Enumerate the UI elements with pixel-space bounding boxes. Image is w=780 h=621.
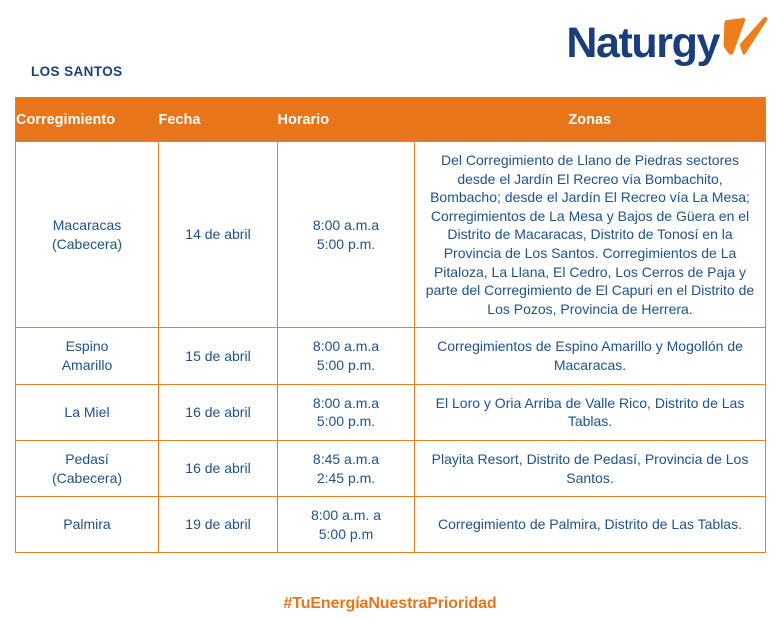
cell-horario: 8:00 a.m.a 5:00 p.m. — [278, 384, 415, 440]
naturgy-wordmark: Naturgy — [566, 22, 719, 65]
column-header-zonas: Zonas — [415, 98, 766, 142]
naturgy-flame-icon — [722, 16, 768, 70]
table-body: Macaracas (Cabecera) 14 de abril 8:00 a.… — [16, 142, 766, 553]
column-header-corregimiento: Corregimiento — [16, 98, 159, 142]
column-header-horario: Horario — [278, 98, 415, 142]
cell-corregimiento: Espino Amarillo — [16, 328, 159, 384]
table-row: Espino Amarillo 15 de abril 8:00 a.m.a 5… — [16, 328, 766, 384]
cell-corregimiento: Macaracas (Cabecera) — [16, 142, 159, 328]
cell-horario: 8:00 a.m.a 5:00 p.m. — [278, 328, 415, 384]
table-row: Pedasí (Cabecera) 16 de abril 8:45 a.m.a… — [16, 440, 766, 496]
cell-horario: 8:45 a.m.a 2:45 p.m. — [278, 440, 415, 496]
table-row: La Miel 16 de abril 8:00 a.m.a 5:00 p.m.… — [16, 384, 766, 440]
campaign-hashtag: #TuEnergíaNuestraPrioridad — [283, 595, 496, 613]
cell-fecha: 15 de abril — [159, 328, 278, 384]
cell-corregimiento: Pedasí (Cabecera) — [16, 440, 159, 496]
cell-corregimiento: Palmira — [16, 497, 159, 553]
table-row: Macaracas (Cabecera) 14 de abril 8:00 a.… — [16, 142, 766, 328]
column-header-fecha: Fecha — [159, 98, 278, 142]
region-title: LOS SANTOS — [31, 64, 123, 79]
outage-table: Corregimiento Fecha Horario Zonas Macara… — [15, 97, 766, 553]
page-footer: #TuEnergíaNuestraPrioridad — [0, 595, 780, 613]
table-header-row: Corregimiento Fecha Horario Zonas — [16, 98, 766, 142]
cell-zonas: El Loro y Oria Arriba de Valle Rico, Dis… — [415, 384, 766, 440]
cell-fecha: 16 de abril — [159, 440, 278, 496]
cell-horario: 8:00 a.m. a 5:00 p.m — [278, 497, 415, 553]
outage-schedule-page: Naturgy LOS SANTOS Corregimiento Fecha — [0, 0, 780, 621]
cell-zonas: Del Corregimiento de Llano de Piedras se… — [415, 142, 766, 328]
page-header: Naturgy LOS SANTOS — [0, 0, 780, 97]
outage-table-container: Corregimiento Fecha Horario Zonas Macara… — [15, 97, 765, 553]
naturgy-logo: Naturgy — [566, 16, 768, 70]
cell-corregimiento: La Miel — [16, 384, 159, 440]
cell-zonas: Corregimientos de Espino Amarillo y Mogo… — [415, 328, 766, 384]
cell-fecha: 14 de abril — [159, 142, 278, 328]
cell-zonas: Playita Resort, Distrito de Pedasí, Prov… — [415, 440, 766, 496]
cell-fecha: 16 de abril — [159, 384, 278, 440]
table-header: Corregimiento Fecha Horario Zonas — [16, 98, 766, 142]
cell-fecha: 19 de abril — [159, 497, 278, 553]
cell-zonas: Corregimiento de Palmira, Distrito de La… — [415, 497, 766, 553]
cell-horario: 8:00 a.m.a 5:00 p.m. — [278, 142, 415, 328]
table-row: Palmira 19 de abril 8:00 a.m. a 5:00 p.m… — [16, 497, 766, 553]
